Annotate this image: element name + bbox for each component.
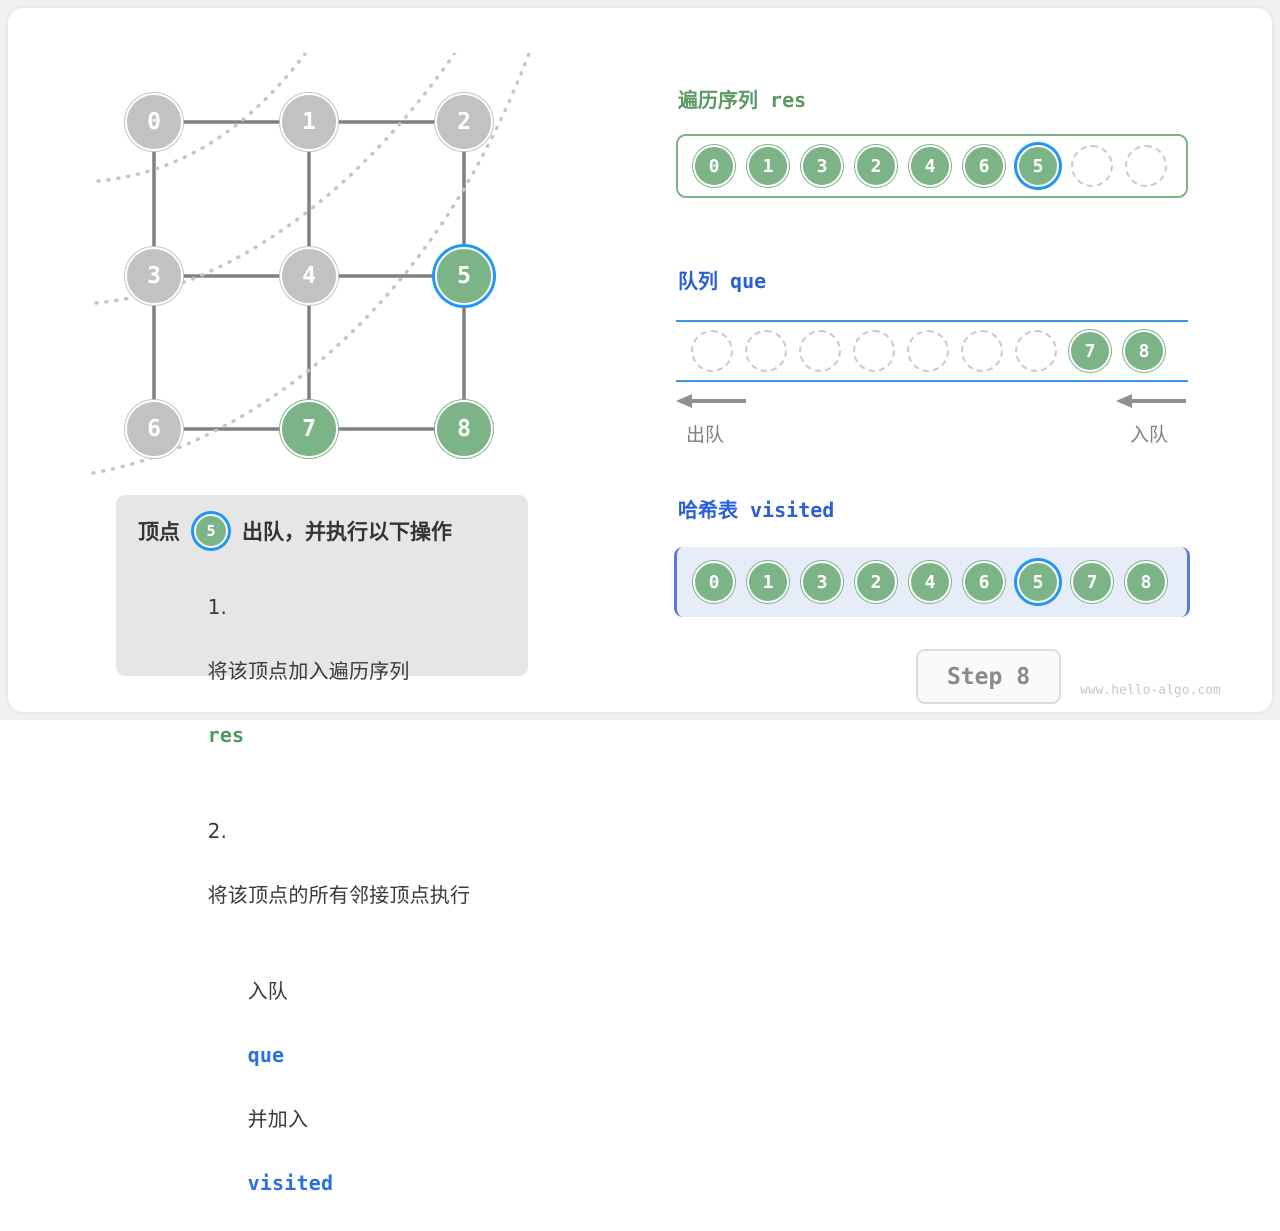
que-container: 78 bbox=[676, 320, 1188, 382]
que-slot-0[interactable] bbox=[691, 330, 733, 372]
visited-slot-5[interactable]: 6 bbox=[963, 561, 1005, 603]
visited-slot-3[interactable]: 2 bbox=[855, 561, 897, 603]
caption-node-label: 5 bbox=[206, 522, 215, 540]
visited-slot-label: 8 bbox=[1141, 572, 1152, 593]
que-slot-6[interactable] bbox=[1015, 330, 1057, 372]
visited-slot-7[interactable]: 7 bbox=[1071, 561, 1113, 603]
que-slot-label: 8 bbox=[1139, 341, 1150, 362]
graph-node-3[interactable]: 3 bbox=[125, 247, 183, 305]
graph-node-2[interactable]: 2 bbox=[435, 93, 493, 151]
que-title: 队列 que bbox=[678, 265, 766, 294]
caption-step-2-prefix: 入队 bbox=[248, 979, 288, 1003]
graph-panel: 012345678 bbox=[88, 53, 558, 503]
que-arrows bbox=[676, 392, 1188, 412]
caption-step-2-code-que: que bbox=[248, 1043, 285, 1067]
watermark: www.hello-algo.com bbox=[1080, 683, 1221, 698]
res-slot-label: 4 bbox=[925, 156, 936, 177]
dequeue-label: 出队 bbox=[686, 420, 724, 447]
graph-node-5[interactable]: 5 bbox=[435, 247, 493, 305]
visited-title: 哈希表 visited bbox=[678, 494, 834, 523]
graph-node-4[interactable]: 4 bbox=[280, 247, 338, 305]
que-slot-label: 7 bbox=[1085, 341, 1096, 362]
visited-slot-2[interactable]: 3 bbox=[801, 561, 843, 603]
visited-slot-0[interactable]: 0 bbox=[693, 561, 735, 603]
res-slot-2[interactable]: 3 bbox=[801, 145, 843, 187]
graph-node-label: 5 bbox=[457, 263, 471, 289]
graph-node-1[interactable]: 1 bbox=[280, 93, 338, 151]
enqueue-arrow-icon bbox=[1116, 392, 1188, 410]
res-slot-8[interactable] bbox=[1125, 145, 1167, 187]
visited-slot-4[interactable]: 4 bbox=[909, 561, 951, 603]
que-slot-5[interactable] bbox=[961, 330, 1003, 372]
caption-step-2: 2. 将该顶点的所有邻接顶点执行 bbox=[142, 783, 508, 943]
res-slot-label: 6 bbox=[979, 156, 990, 177]
visited-slot-label: 4 bbox=[925, 572, 936, 593]
res-slot-label: 1 bbox=[763, 156, 774, 177]
visited-slot-label: 6 bbox=[979, 572, 990, 593]
res-slot-label: 0 bbox=[709, 156, 720, 177]
caption-step-1-number: 1. bbox=[208, 595, 227, 619]
caption-step-2-text: 将该顶点的所有邻接顶点执行 bbox=[208, 883, 471, 907]
caption-head-prefix: 顶点 bbox=[138, 516, 180, 546]
res-slot-3[interactable]: 2 bbox=[855, 145, 897, 187]
content-card: 012345678 顶点 5 出队，并执行以下操作 1. 将该顶点加入遍历序列 … bbox=[8, 8, 1272, 712]
step-badge: Step 8 bbox=[916, 649, 1061, 704]
visited-slot-label: 5 bbox=[1033, 572, 1044, 593]
graph-node-label: 8 bbox=[457, 416, 471, 442]
visited-slot-8[interactable]: 8 bbox=[1125, 561, 1167, 603]
graph-node-label: 3 bbox=[147, 263, 161, 289]
que-slot-1[interactable] bbox=[745, 330, 787, 372]
res-title: 遍历序列 res bbox=[678, 84, 806, 113]
que-slot-2[interactable] bbox=[799, 330, 841, 372]
visited-slot-label: 2 bbox=[871, 572, 882, 593]
dequeue-arrow-icon bbox=[676, 392, 748, 410]
graph-node-0[interactable]: 0 bbox=[125, 93, 183, 151]
caption-node-5: 5 bbox=[194, 514, 228, 548]
caption-step-1: 1. 将该顶点加入遍历序列 res bbox=[142, 559, 508, 783]
visited-slot-1[interactable]: 1 bbox=[747, 561, 789, 603]
screenshot-root: 012345678 顶点 5 出队，并执行以下操作 1. 将该顶点加入遍历序列 … bbox=[0, 0, 1280, 720]
graph-node-8[interactable]: 8 bbox=[435, 400, 493, 458]
caption-step-2-code-visited: visited bbox=[248, 1171, 334, 1195]
visited-slot-label: 1 bbox=[763, 572, 774, 593]
caption-steps: 1. 将该顶点加入遍历序列 res 2. 将该顶点的所有邻接顶点执行 入队 qu… bbox=[138, 559, 508, 1231]
caption-head-suffix: 出队，并执行以下操作 bbox=[242, 516, 452, 546]
graph-node-6[interactable]: 6 bbox=[125, 400, 183, 458]
graph-node-label: 6 bbox=[147, 416, 161, 442]
visited-slot-6[interactable]: 5 bbox=[1017, 561, 1059, 603]
visited-slot-label: 3 bbox=[817, 572, 828, 593]
res-slot-4[interactable]: 4 bbox=[909, 145, 951, 187]
res-slot-1[interactable]: 1 bbox=[747, 145, 789, 187]
graph-node-label: 2 bbox=[457, 109, 471, 135]
caption-step-1-text: 将该顶点加入遍历序列 bbox=[208, 659, 410, 683]
res-slot-label: 3 bbox=[817, 156, 828, 177]
res-slot-label: 2 bbox=[871, 156, 882, 177]
caption-step-1-code: res bbox=[208, 723, 245, 747]
res-slot-label: 5 bbox=[1033, 156, 1044, 177]
graph-node-label: 7 bbox=[302, 416, 316, 442]
res-container: 0132465 bbox=[676, 134, 1188, 198]
que-slot-8[interactable]: 8 bbox=[1123, 330, 1165, 372]
graph-node-7[interactable]: 7 bbox=[280, 400, 338, 458]
caption-step-2-mid: 并加入 bbox=[248, 1107, 309, 1131]
res-slot-5[interactable]: 6 bbox=[963, 145, 1005, 187]
caption-step-2-cont: 入队 que 并加入 visited bbox=[142, 943, 508, 1231]
que-slot-3[interactable] bbox=[853, 330, 895, 372]
que-slot-4[interactable] bbox=[907, 330, 949, 372]
graph-node-label: 0 bbox=[147, 109, 161, 135]
caption-headline: 顶点 5 出队，并执行以下操作 bbox=[138, 511, 508, 551]
visited-slot-label: 7 bbox=[1087, 572, 1098, 593]
graph-node-label: 1 bbox=[302, 109, 316, 135]
visited-container: 013246578 bbox=[674, 547, 1190, 617]
que-slot-7[interactable]: 7 bbox=[1069, 330, 1111, 372]
caption-box: 顶点 5 出队，并执行以下操作 1. 将该顶点加入遍历序列 res 2. bbox=[116, 495, 528, 676]
res-slot-6[interactable]: 5 bbox=[1017, 145, 1059, 187]
caption-step-2-number: 2. bbox=[208, 819, 227, 843]
res-slot-7[interactable] bbox=[1071, 145, 1113, 187]
graph-node-label: 4 bbox=[302, 263, 316, 289]
res-slot-0[interactable]: 0 bbox=[693, 145, 735, 187]
enqueue-label: 入队 bbox=[1130, 420, 1168, 447]
visited-slot-label: 0 bbox=[709, 572, 720, 593]
